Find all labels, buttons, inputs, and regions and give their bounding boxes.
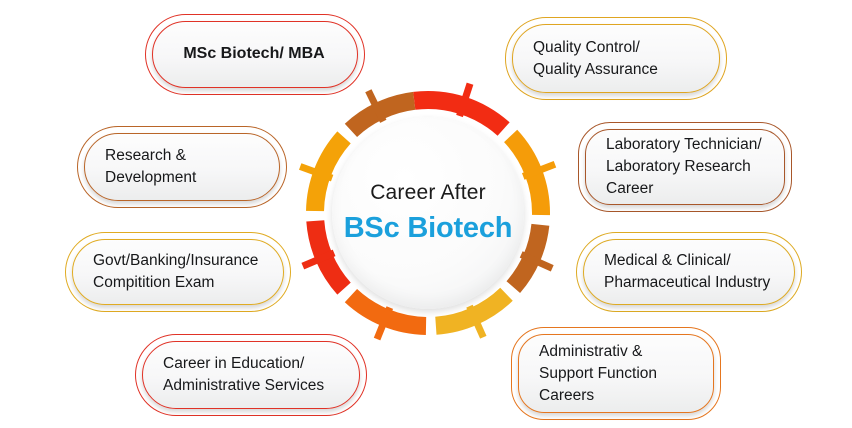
career-diagram: MSc Biotech/ MBAQuality Control/ Quality…	[0, 0, 852, 428]
node-administrative-support[interactable]: Administrativ & Support Function Careers	[518, 334, 714, 413]
node-label-govt-banking-insurance: Govt/Banking/Insurance Compitition Exam	[73, 250, 270, 294]
node-research-development[interactable]: Research & Development	[84, 133, 280, 201]
node-medical-clinical[interactable]: Medical & Clinical/ Pharmaceutical Indus…	[583, 239, 795, 305]
node-label-laboratory-technician: Laboratory Technician/ Laboratory Resear…	[586, 134, 774, 200]
center-hub-subtitle: Career After	[370, 181, 486, 205]
node-label-administrative-support: Administrativ & Support Function Careers	[519, 341, 669, 407]
center-hub-title: BSc Biotech	[344, 212, 513, 245]
node-label-career-education: Career in Education/ Administrative Serv…	[143, 353, 336, 397]
center-hub: Career After BSc Biotech	[332, 117, 524, 309]
node-msc-biotech-mba[interactable]: MSc Biotech/ MBA	[152, 21, 358, 88]
node-quality-control[interactable]: Quality Control/ Quality Assurance	[512, 24, 720, 93]
node-label-medical-clinical: Medical & Clinical/ Pharmaceutical Indus…	[584, 250, 782, 294]
node-label-msc-biotech-mba: MSc Biotech/ MBA	[153, 43, 357, 66]
node-label-research-development: Research & Development	[85, 145, 208, 189]
node-laboratory-technician[interactable]: Laboratory Technician/ Laboratory Resear…	[585, 129, 785, 205]
node-govt-banking-insurance[interactable]: Govt/Banking/Insurance Compitition Exam	[72, 239, 284, 305]
node-label-quality-control: Quality Control/ Quality Assurance	[513, 37, 670, 81]
node-career-education[interactable]: Career in Education/ Administrative Serv…	[142, 341, 360, 409]
